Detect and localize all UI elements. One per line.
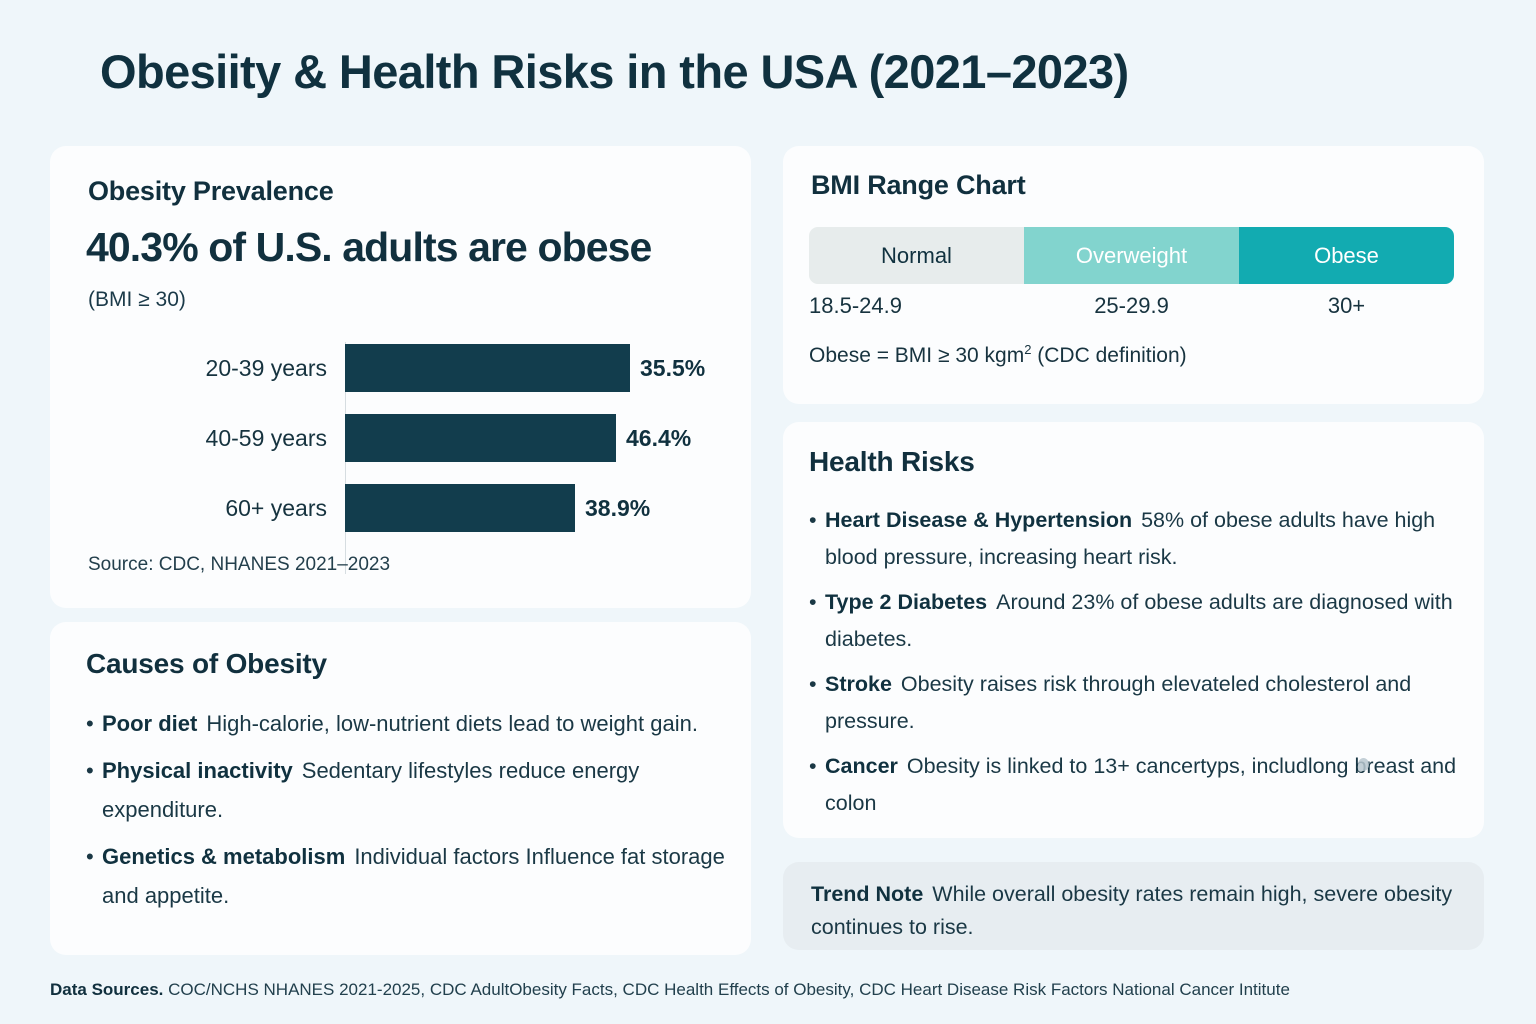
bar-track: 35.5% (345, 344, 718, 392)
list-item-text: Type 2 DiabetesAround 23% of obese adult… (825, 584, 1459, 658)
causes-of-obesity-card: Causes of Obesity • Poor dietHigh-calori… (50, 622, 751, 955)
list-item-term: Poor diet (102, 711, 197, 736)
bmi-range-overweight: 25-29.9 (1024, 293, 1239, 319)
bar-row: 40-59 years 46.4% (88, 414, 718, 462)
bar-row: 60+ years 38.9% (88, 484, 718, 532)
bmi-range-values: 18.5-24.9 25-29.9 30+ (809, 293, 1454, 319)
obesity-prevalence-card: Obesity Prevalence 40.3% of U.S. adults … (50, 146, 751, 608)
bullet-dot-icon: • (809, 666, 825, 740)
obesity-by-age-bar-chart: 20-39 years 35.5% 40-59 years 46.4% 60+ … (88, 344, 718, 554)
bar-row: 20-39 years 35.5% (88, 344, 718, 392)
list-item-term: Heart Disease & Hypertension (825, 508, 1132, 532)
risks-heading: Health Risks (809, 446, 975, 478)
bar-fill (345, 484, 575, 532)
data-sources-footer: Data Sources. COC/NCHS NHANES 2021-2025,… (50, 980, 1290, 1000)
list-item: • StrokeObesity raises risk through elev… (809, 666, 1459, 740)
list-item-detail: High-calorie, low-nutrient diets lead to… (206, 711, 698, 736)
page-title: Obesiity & Health Risks in the USA (2021… (100, 44, 1129, 99)
risks-list: • Heart Disease & Hypertension58% of obe… (809, 502, 1459, 830)
bmi-range-obese: 30+ (1239, 293, 1454, 319)
list-item-term: Physical inactivity (102, 758, 293, 783)
footer-label: Data Sources. (50, 980, 163, 999)
bar-category-label: 40-59 years (88, 425, 345, 452)
bar-track: 38.9% (345, 484, 718, 532)
bmi-definition-pre: Obese = BMI ≥ 30 kgm (809, 344, 1024, 367)
bullet-dot-icon: • (86, 751, 102, 829)
bmi-definition-note: Obese = BMI ≥ 30 kgm2 (CDC definition) (809, 342, 1187, 368)
bullet-dot-icon: • (809, 502, 825, 576)
prevalence-subnote: (BMI ≥ 30) (88, 288, 186, 312)
bullet-dot-icon: • (86, 837, 102, 915)
bmi-segment-obese: Obese (1239, 227, 1454, 284)
bmi-heading: BMI Range Chart (811, 170, 1026, 201)
trend-note-card: Trend NoteWhile overall obesity rates re… (783, 862, 1484, 950)
bullet-dot-icon: • (809, 748, 825, 822)
list-item-text: Physical inactivitySedentary lifestyles … (102, 751, 736, 829)
footer-text: COC/NCHS NHANES 2021-2025, CDC AdultObes… (168, 980, 1290, 999)
causes-list: • Poor dietHigh-calorie, low-nutrient di… (86, 704, 736, 923)
mouse-cursor-icon (1358, 758, 1369, 771)
bar-value-label: 38.9% (585, 495, 650, 522)
bmi-range-bar: Normal Overweight Obese (809, 227, 1454, 284)
trend-note-term: Trend Note (811, 882, 923, 906)
bmi-segment-overweight: Overweight (1024, 227, 1239, 284)
list-item: • Type 2 DiabetesAround 23% of obese adu… (809, 584, 1459, 658)
bmi-range-normal: 18.5-24.9 (809, 293, 1024, 319)
bar-category-label: 20-39 years (88, 355, 345, 382)
list-item: • Physical inactivitySedentary lifestyle… (86, 751, 736, 829)
bar-category-label: 60+ years (88, 495, 345, 522)
list-item-term: Genetics & metabolism (102, 844, 345, 869)
bmi-range-chart-card: BMI Range Chart Normal Overweight Obese … (783, 146, 1484, 404)
list-item: • Genetics & metabolismIndividual factor… (86, 837, 736, 915)
bar-value-label: 35.5% (640, 355, 705, 382)
bullet-dot-icon: • (86, 704, 102, 743)
list-item-term: Cancer (825, 754, 898, 778)
health-risks-card: Health Risks • Heart Disease & Hypertens… (783, 422, 1484, 838)
bar-track: 46.4% (345, 414, 718, 462)
list-item-text: Poor dietHigh-calorie, low-nutrient diet… (102, 704, 698, 743)
list-item-term: Stroke (825, 672, 892, 696)
list-item-detail: Obesity raises risk through elevateled c… (825, 672, 1411, 733)
prevalence-heading: Obesity Prevalence (88, 176, 334, 207)
list-item-text: Heart Disease & Hypertension58% of obese… (825, 502, 1459, 576)
trend-note-text: Trend NoteWhile overall obesity rates re… (811, 878, 1461, 944)
bar-fill (345, 344, 630, 392)
bmi-segment-normal: Normal (809, 227, 1024, 284)
prevalence-headline: 40.3% of U.S. adults are obese (86, 224, 651, 271)
list-item-text: Genetics & metabolismIndividual factors … (102, 837, 736, 915)
bullet-dot-icon: • (809, 584, 825, 658)
list-item-text: StrokeObesity raises risk through elevat… (825, 666, 1459, 740)
bar-value-label: 46.4% (626, 425, 691, 452)
bar-fill (345, 414, 616, 462)
bmi-definition-post: (CDC definition) (1031, 344, 1186, 367)
list-item-term: Type 2 Diabetes (825, 590, 987, 614)
list-item: • Heart Disease & Hypertension58% of obe… (809, 502, 1459, 576)
chart-source-note: Source: CDC, NHANES 2021–2023 (88, 554, 390, 576)
causes-heading: Causes of Obesity (86, 648, 327, 680)
list-item: • Poor dietHigh-calorie, low-nutrient di… (86, 704, 736, 743)
